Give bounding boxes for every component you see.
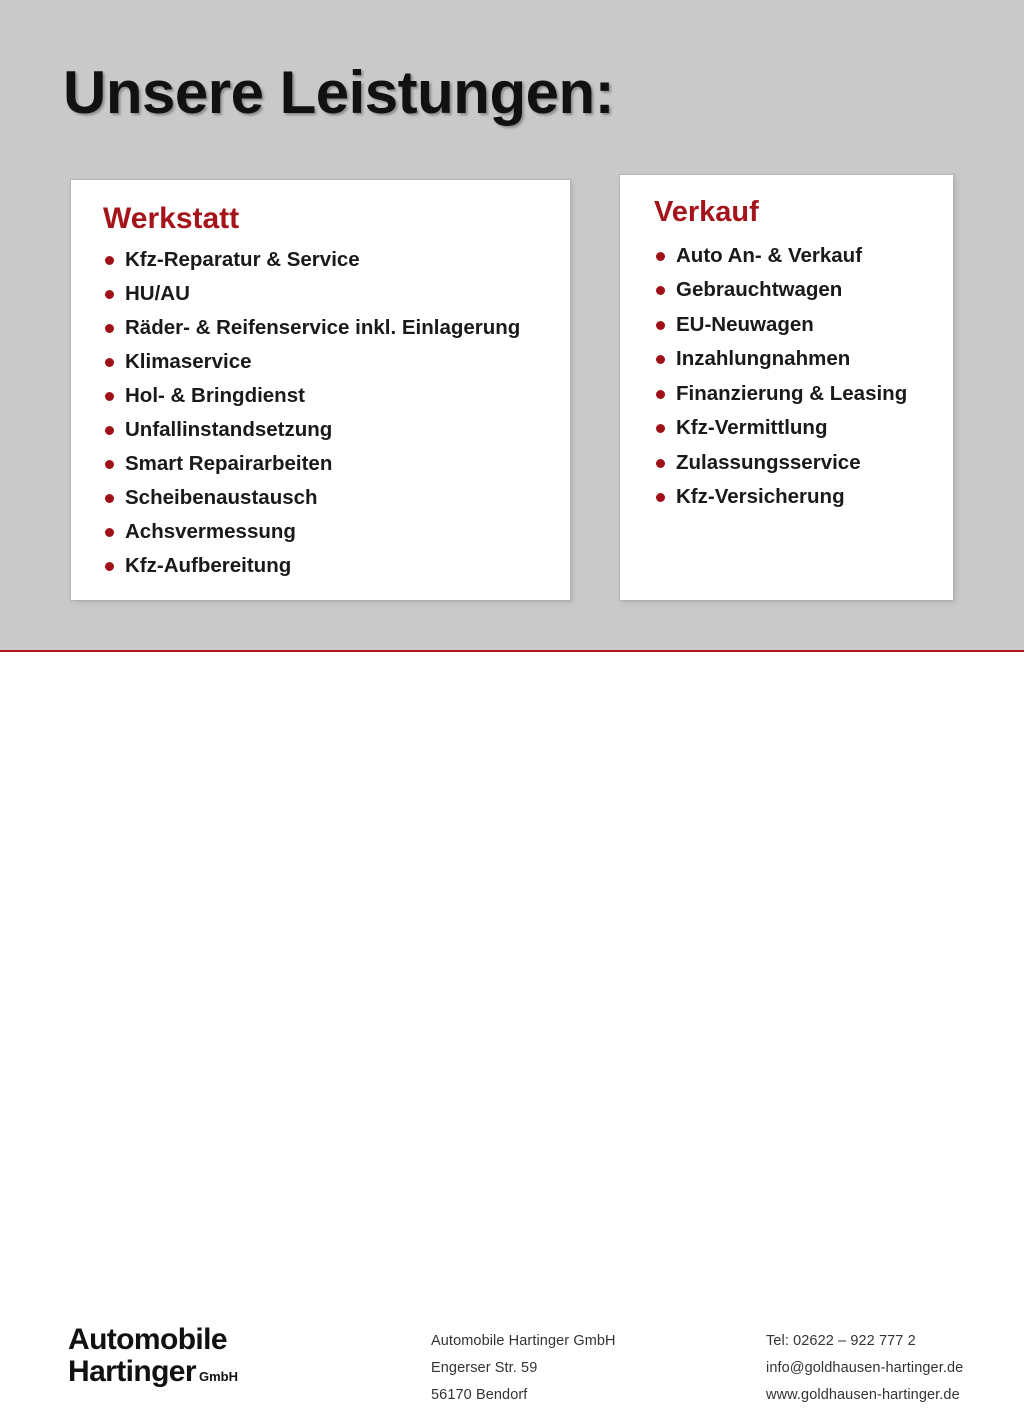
contact-address-block: Automobile Hartinger GmbH Engerser Str. … [431,1328,616,1409]
logo-line-automobile: Automobile [68,1324,238,1356]
contact-phone: Tel: 02622 – 922 777 2 [766,1328,963,1355]
page-title: Unsere Leistungen: [63,58,614,127]
list-item: Kfz-Reparatur & Service [103,243,552,277]
workshop-service-list: Kfz-Reparatur & Service HU/AU Räder- & R… [103,243,552,583]
list-item: Achsvermessung [103,515,552,549]
list-item: Finanzierung & Leasing [654,377,935,412]
contact-website[interactable]: www.goldhausen-hartinger.de [766,1382,963,1409]
card-workshop-heading: Werkstatt [103,202,552,235]
list-item: HU/AU [103,277,552,311]
list-item: EU-Neuwagen [654,308,935,343]
card-workshop: Werkstatt Kfz-Reparatur & Service HU/AU … [71,180,570,600]
list-item: Kfz-Aufbereitung [103,549,552,583]
list-item: Kfz-Vermittlung [654,411,935,446]
contact-email[interactable]: info@goldhausen-hartinger.de [766,1355,963,1382]
list-item: Hol- & Bringdienst [103,379,552,413]
card-sales: Verkauf Auto An- & Verkauf Gebrauchtwage… [620,175,953,600]
company-logo: Automobile HartingerGmbH [68,1324,238,1389]
contact-city: 56170 Bendorf [431,1382,616,1409]
list-item: Zulassungsservice [654,446,935,481]
list-item: Räder- & Reifenservice inkl. Einlagerung [103,311,552,345]
logo-line-hartinger-row: HartingerGmbH [68,1356,238,1388]
list-item: Gebrauchtwagen [654,273,935,308]
list-item: Inzahlungnahmen [654,342,935,377]
logo-suffix-gmbh: GmbH [196,1369,238,1384]
list-item: Smart Repairarbeiten [103,447,552,481]
list-item: Auto An- & Verkauf [654,239,935,274]
list-item: Kfz-Versicherung [654,480,935,515]
contact-company: Automobile Hartinger GmbH [431,1328,616,1355]
content-stage: Unsere Leistungen: Werkstatt Kfz-Reparat… [0,0,1024,650]
contact-street: Engerser Str. 59 [431,1355,616,1382]
logo-line-hartinger: Hartinger [68,1355,196,1388]
list-item: Unfallinstandsetzung [103,413,552,447]
card-sales-heading: Verkauf [654,197,935,229]
footer: Automobile HartingerGmbH Automobile Hart… [0,652,1024,768]
sales-service-list: Auto An- & Verkauf Gebrauchtwagen EU-Neu… [654,239,935,515]
contact-channels-block: Tel: 02622 – 922 777 2 info@goldhausen-h… [766,1328,963,1409]
list-item: Klimaservice [103,345,552,379]
list-item: Scheibenaustausch [103,481,552,515]
slide-root: Unsere Leistungen: Werkstatt Kfz-Reparat… [0,0,1024,768]
